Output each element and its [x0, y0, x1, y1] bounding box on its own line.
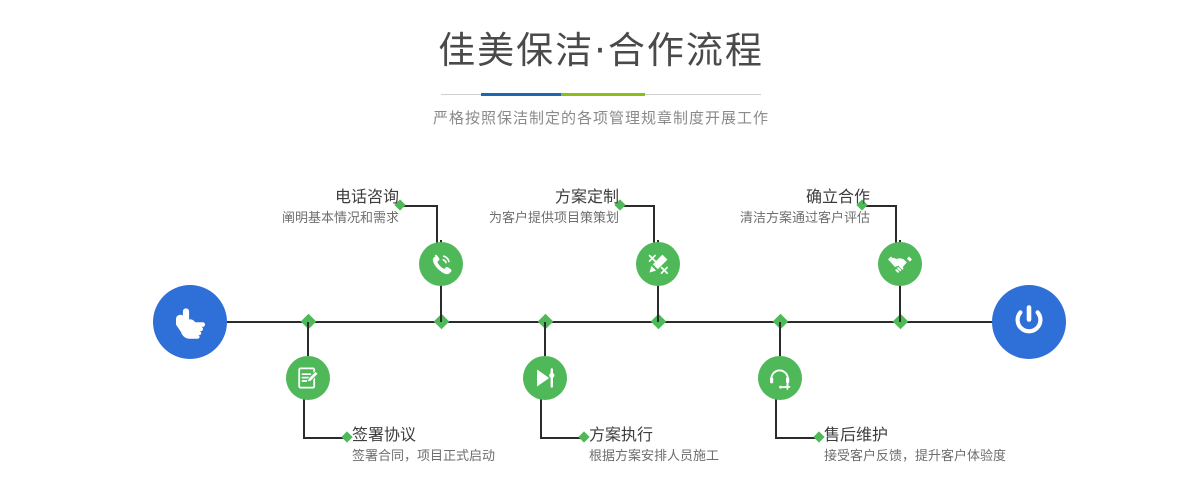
header: 佳美保洁·合作流程 严格按照保洁制定的各项管理规章制度开展工作	[0, 30, 1202, 128]
title-divider	[441, 93, 761, 96]
connector-elbow-horizontal	[303, 437, 347, 439]
label-dot	[578, 431, 589, 442]
timeline-start-node	[153, 285, 227, 359]
connector-elbow-vertical	[775, 398, 777, 438]
label-dot	[341, 431, 352, 442]
page-subtitle: 严格按照保洁制定的各项管理规章制度开展工作	[0, 107, 1202, 128]
headset-support-icon	[767, 365, 793, 391]
step-title: 确立合作	[740, 187, 870, 207]
divider-blue-segment	[481, 93, 561, 96]
pointing-hand-icon	[170, 302, 210, 342]
step-desc: 为客户提供项目策策划	[489, 209, 619, 229]
step-desc: 接受客户反馈，提升客户体验度	[824, 447, 1006, 467]
step-label-phone: 电话咨询 阐明基本情况和需求	[282, 187, 399, 229]
connector-stem	[544, 322, 546, 356]
connector-elbow-vertical	[436, 205, 438, 245]
divider-green-segment	[561, 93, 645, 96]
step-icon-handshake	[878, 242, 922, 286]
connector-elbow-vertical	[653, 205, 655, 245]
step-label-handshake: 确立合作 清洁方案通过客户评估	[740, 187, 870, 229]
connector-elbow-horizontal	[540, 437, 584, 439]
power-icon	[1008, 301, 1050, 343]
step-icon-phone	[419, 242, 463, 286]
connector-elbow-vertical	[303, 398, 305, 438]
connector-elbow-horizontal	[775, 437, 819, 439]
connector-stem	[307, 322, 309, 356]
connector-elbow-vertical	[540, 398, 542, 438]
step-desc: 阐明基本情况和需求	[282, 209, 399, 229]
page-title: 佳美保洁·合作流程	[0, 30, 1202, 73]
label-dot	[813, 431, 824, 442]
step-title: 售后维护	[824, 425, 1006, 445]
step-desc: 签署合同，项目正式启动	[352, 447, 495, 467]
step-icon-sign	[286, 356, 330, 400]
step-title: 签署协议	[352, 425, 495, 445]
connector-elbow-vertical	[895, 205, 897, 245]
step-label-design: 方案定制 为客户提供项目策策划	[489, 187, 619, 229]
phone-call-icon	[428, 251, 454, 277]
pencil-design-icon	[645, 251, 671, 277]
step-label-support: 售后维护 接受客户反馈，提升客户体验度	[824, 425, 1006, 467]
step-title: 方案执行	[589, 425, 719, 445]
flow-diagram: 佳美保洁·合作流程 严格按照保洁制定的各项管理规章制度开展工作	[0, 0, 1202, 502]
document-edit-icon	[295, 365, 321, 391]
connector-elbow-horizontal	[621, 205, 655, 207]
step-icon-design	[636, 242, 680, 286]
timeline-end-node	[992, 285, 1066, 359]
step-desc: 根据方案安排人员施工	[589, 447, 719, 467]
step-title: 电话咨询	[282, 187, 399, 207]
connector-stem	[779, 322, 781, 356]
play-execute-icon	[532, 365, 558, 391]
step-icon-support	[758, 356, 802, 400]
step-icon-execute	[523, 356, 567, 400]
step-label-sign: 签署协议 签署合同，项目正式启动	[352, 425, 495, 467]
handshake-icon	[887, 251, 913, 277]
connector-elbow-horizontal	[401, 205, 438, 207]
step-title: 方案定制	[489, 187, 619, 207]
step-desc: 清洁方案通过客户评估	[740, 209, 870, 229]
step-label-execute: 方案执行 根据方案安排人员施工	[589, 425, 719, 467]
